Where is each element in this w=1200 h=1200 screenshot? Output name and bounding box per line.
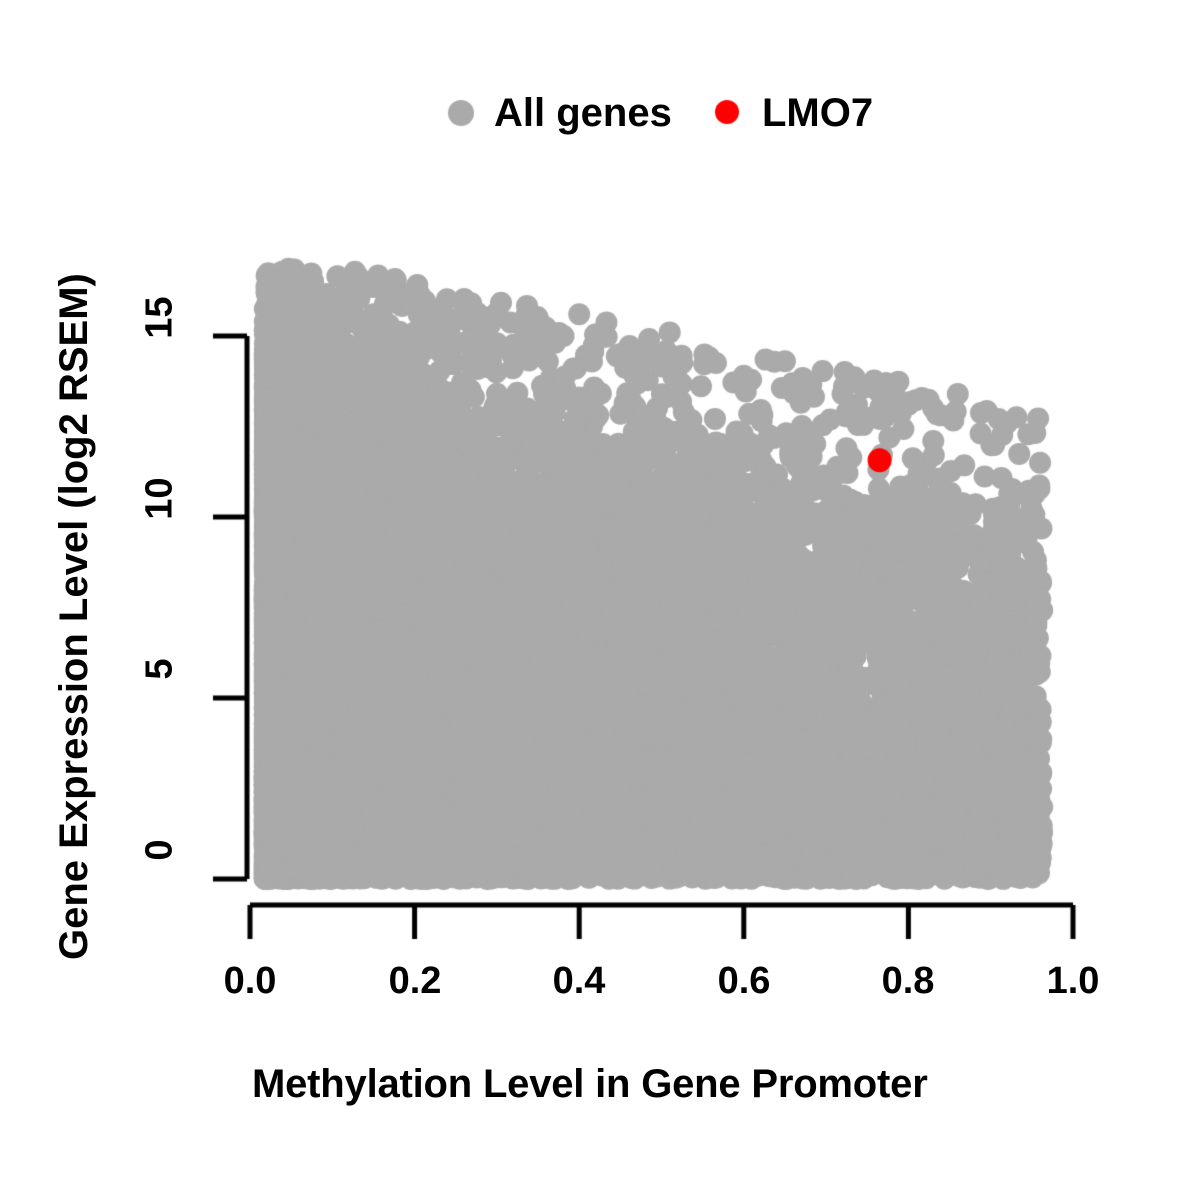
legend-label-lmo7: LMO7 — [762, 91, 873, 136]
y-tick-label-2: 10 — [139, 478, 182, 558]
scatter-plot-canvas — [0, 0, 1200, 1200]
y-tick-label-1: 5 — [139, 659, 182, 739]
y-tick-label-3: 15 — [139, 297, 182, 377]
x-tick-label-2: 0.4 — [519, 960, 639, 1003]
y-tick-label-0: 0 — [139, 840, 182, 920]
x-tick-label-4: 0.8 — [848, 960, 968, 1003]
x-tick-label-5: 1.0 — [1013, 960, 1133, 1003]
x-axis-title: Methylation Level in Gene Promoter — [252, 1062, 928, 1107]
y-axis-title: Gene Expression Level (log2 RSEM) — [52, 273, 97, 960]
legend-label-all-genes: All genes — [494, 91, 672, 136]
scatter-plot-figure: All genes LMO7 Methylation Level in Gene… — [0, 0, 1200, 1200]
x-tick-label-1: 0.2 — [355, 960, 475, 1003]
x-tick-label-0: 0.0 — [190, 960, 310, 1003]
x-tick-label-3: 0.6 — [684, 960, 804, 1003]
